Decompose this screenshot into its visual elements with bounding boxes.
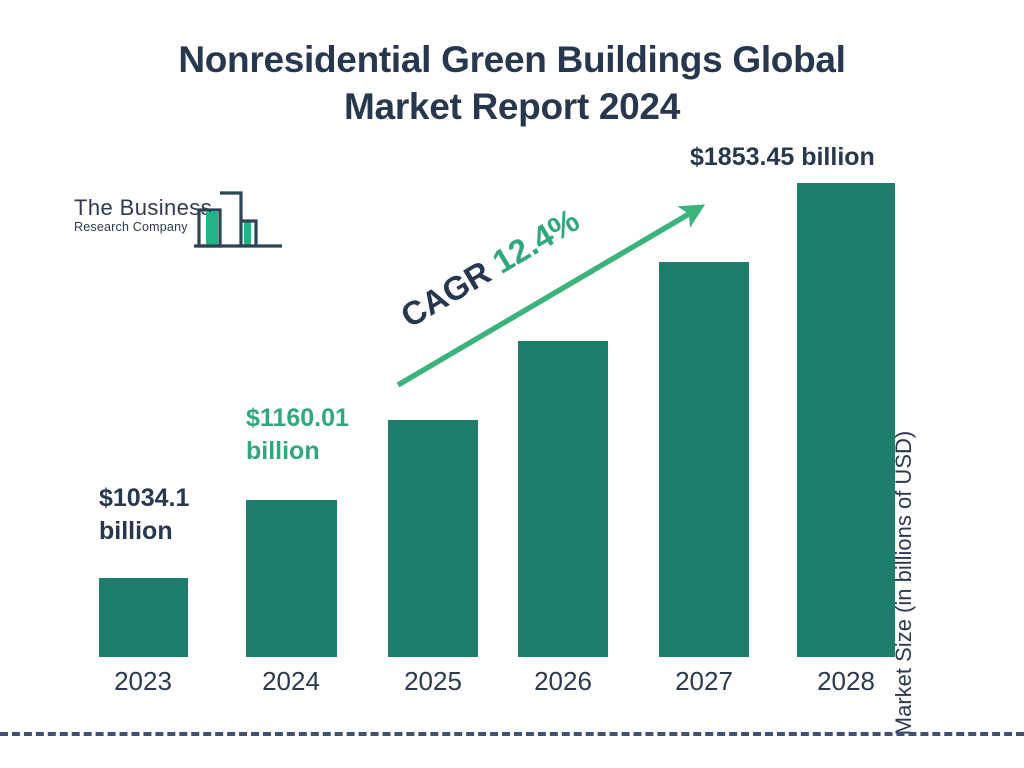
- x-tick-2028: 2028: [786, 666, 906, 697]
- x-tick-2024: 2024: [231, 666, 351, 697]
- x-tick-2026: 2026: [503, 666, 623, 697]
- bottom-divider: [0, 732, 1024, 736]
- x-tick-2027: 2027: [644, 666, 764, 697]
- y-axis-label: Market Size (in billions of USD): [891, 383, 917, 768]
- x-tick-2025: 2025: [373, 666, 493, 697]
- cagr-growth-arrow-icon: [0, 0, 1024, 768]
- y-axis-label-wrapper: Market Size (in billions of USD): [916, 270, 956, 670]
- x-tick-2023: 2023: [83, 666, 203, 697]
- chart-page: Nonresidential Green Buildings Global Ma…: [0, 0, 1024, 768]
